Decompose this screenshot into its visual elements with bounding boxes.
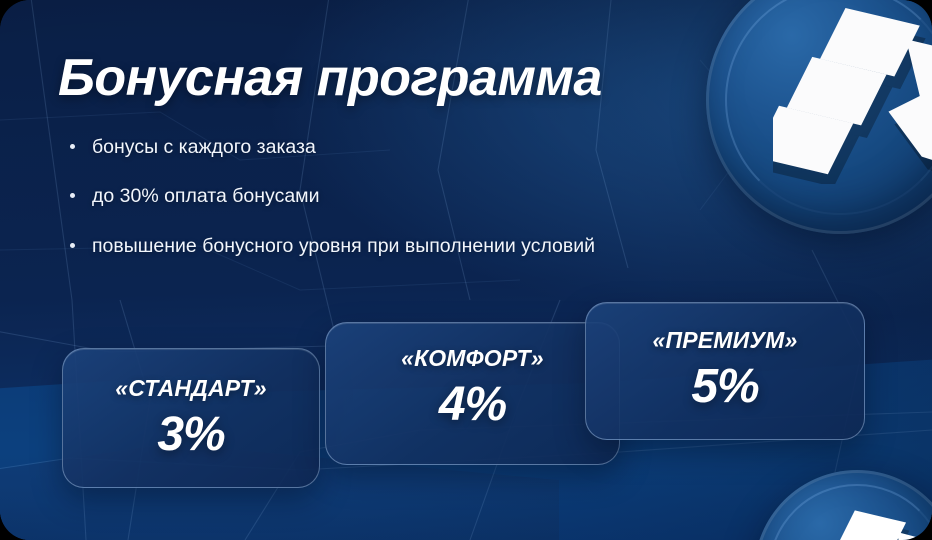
tier-card-comfort[interactable]: «КОМФОРТ» 4% <box>325 322 620 465</box>
benefit-text: бонусы с каждого заказа <box>92 136 316 158</box>
company-logo-icon <box>805 510 932 540</box>
list-item: бонусы с каждого заказа <box>64 136 824 158</box>
bullet-dot-icon <box>70 144 75 149</box>
benefits-list: бонусы с каждого заказа до 30% оплата бо… <box>64 136 824 257</box>
tier-card-premium[interactable]: «ПРЕМИУМ» 5% <box>585 302 865 440</box>
tier-name: «ПРЕМИУМ» <box>586 327 864 354</box>
list-item: повышение бонусного уровня при выполнени… <box>64 235 824 257</box>
bullet-dot-icon <box>70 243 75 248</box>
bonus-program-banner: Бонусная программа бонусы с каждого зака… <box>0 0 932 540</box>
bullet-dot-icon <box>70 193 75 198</box>
benefit-text: повышение бонусного уровня при выполнени… <box>92 235 595 257</box>
tier-card-standard[interactable]: «СТАНДАРТ» 3% <box>62 348 320 488</box>
tier-percent: 4% <box>326 377 619 432</box>
tier-name: «КОМФОРТ» <box>326 345 619 372</box>
tier-percent: 5% <box>586 359 864 414</box>
list-item: до 30% оплата бонусами <box>64 185 824 207</box>
page-title: Бонусная программа <box>58 48 602 108</box>
tier-percent: 3% <box>63 407 319 462</box>
tier-name: «СТАНДАРТ» <box>63 375 319 402</box>
benefit-text: до 30% оплата бонусами <box>92 185 319 207</box>
